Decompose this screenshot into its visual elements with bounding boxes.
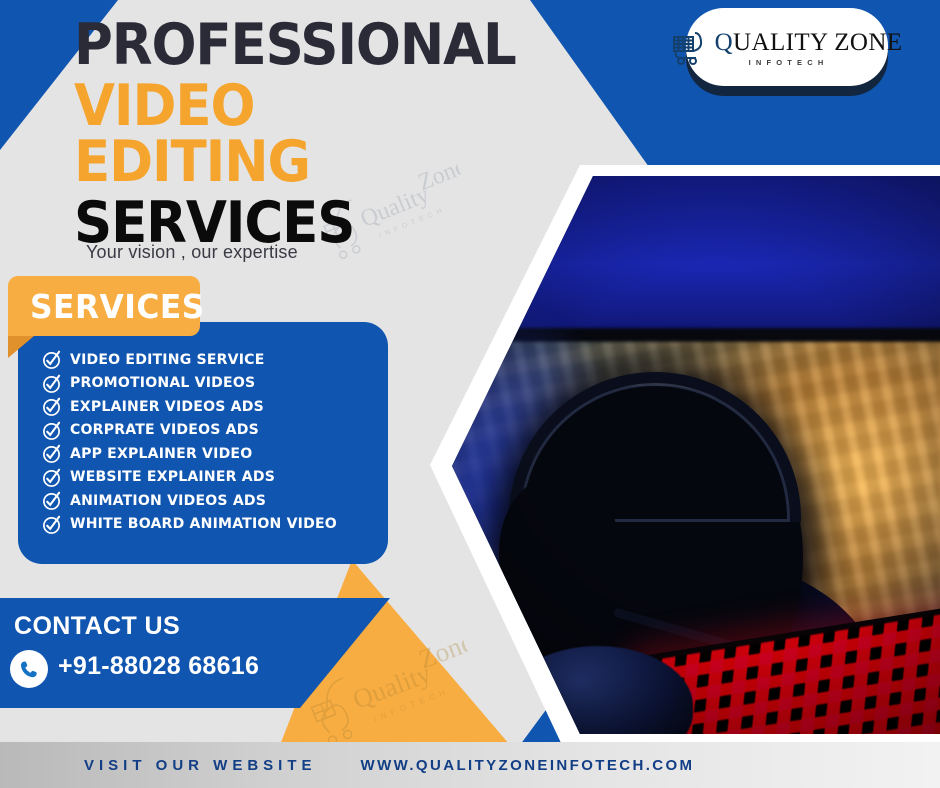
check-circle-icon bbox=[42, 397, 61, 416]
service-label: WEBSITE EXPLAINER ADS bbox=[70, 469, 275, 485]
list-item[interactable]: VIDEO EDITING SERVICE bbox=[42, 348, 388, 372]
services-tag: SERVICES bbox=[8, 276, 200, 336]
poster-canvas: Quality Zone INFOTECH QUALITY ZONE INFOT… bbox=[0, 0, 940, 788]
logo-one: ONE bbox=[850, 29, 903, 56]
contact-title: CONTACT US bbox=[14, 612, 180, 641]
headline-block: PROFESSIONAL VIDEO EDITING SERVICES bbox=[74, 18, 504, 251]
logo-wordmark: QUALITY ZONE INFOTECH bbox=[715, 30, 903, 67]
check-circle-icon bbox=[42, 468, 61, 487]
service-label: EXPLAINER VIDEOS ADS bbox=[70, 399, 264, 415]
list-item[interactable]: CORPRATE VIDEOS ADS bbox=[42, 419, 388, 443]
service-label: APP EXPLAINER VIDEO bbox=[70, 446, 252, 462]
list-item[interactable]: WHITE BOARD ANIMATION VIDEO bbox=[42, 513, 388, 537]
brand-logo[interactable]: QUALITY ZONE INFOTECH bbox=[686, 8, 888, 86]
services-list: VIDEO EDITING SERVICE PROMOTIONAL VIDEOS… bbox=[42, 348, 388, 536]
logo-sub-text: INFOTECH bbox=[749, 58, 829, 67]
service-label: WHITE BOARD ANIMATION VIDEO bbox=[70, 516, 337, 532]
list-item[interactable]: PROMOTIONAL VIDEOS bbox=[42, 372, 388, 396]
services-tag-label: SERVICES bbox=[30, 287, 205, 326]
footer-bar: VISIT OUR WEBSITE WWW.QUALITYZONEINFOTEC… bbox=[0, 742, 940, 788]
check-circle-icon bbox=[42, 421, 61, 440]
service-label: ANIMATION VIDEOS ADS bbox=[70, 493, 266, 509]
phone-number[interactable]: +91-88028 68616 bbox=[58, 652, 259, 681]
list-item[interactable]: WEBSITE EXPLAINER ADS bbox=[42, 466, 388, 490]
phone-icon[interactable] bbox=[10, 650, 48, 688]
shopping-cart-icon bbox=[672, 31, 708, 65]
footer-visit-label: VISIT OUR WEBSITE bbox=[84, 757, 317, 774]
check-circle-icon bbox=[42, 444, 61, 463]
service-label: CORPRATE VIDEOS ADS bbox=[70, 422, 259, 438]
list-item[interactable]: ANIMATION VIDEOS ADS bbox=[42, 489, 388, 513]
check-circle-icon bbox=[42, 374, 61, 393]
service-label: VIDEO EDITING SERVICE bbox=[70, 352, 265, 368]
logo-z: Z bbox=[834, 29, 850, 56]
headline-line-1: PROFESSIONAL bbox=[74, 18, 474, 74]
logo-main-text: QUALITY ZONE bbox=[715, 30, 903, 55]
footer-website-url[interactable]: WWW.QUALITYZONEINFOTECH.COM bbox=[361, 757, 695, 774]
logo-q: Q bbox=[715, 29, 733, 56]
phone-glyph bbox=[19, 659, 40, 680]
logo-uality: UALITY bbox=[733, 29, 834, 56]
services-card: VIDEO EDITING SERVICE PROMOTIONAL VIDEOS… bbox=[18, 322, 388, 564]
headline-line-2: VIDEO EDITING bbox=[74, 79, 474, 191]
check-circle-icon bbox=[42, 515, 61, 534]
tagline: Your vision , our expertise bbox=[86, 242, 298, 263]
service-label: PROMOTIONAL VIDEOS bbox=[70, 375, 255, 391]
logo-inner: QUALITY ZONE INFOTECH bbox=[672, 28, 903, 67]
list-item[interactable]: EXPLAINER VIDEOS ADS bbox=[42, 395, 388, 419]
check-circle-icon bbox=[42, 491, 61, 510]
list-item[interactable]: APP EXPLAINER VIDEO bbox=[42, 442, 388, 466]
check-circle-icon bbox=[42, 350, 61, 369]
